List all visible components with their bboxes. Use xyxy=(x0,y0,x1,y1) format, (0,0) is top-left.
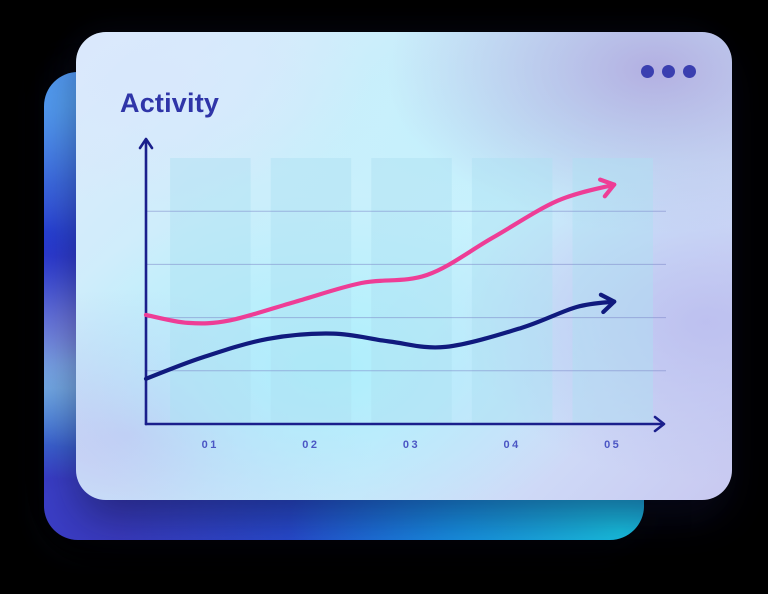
activity-line-chart: 0102030405 xyxy=(76,32,732,500)
chart-bar xyxy=(271,158,352,424)
chart-bar xyxy=(170,158,251,424)
x-axis-tick-label: 02 xyxy=(302,439,319,451)
chart-canvas[interactable]: 0102030405 xyxy=(76,32,732,500)
x-axis-tick-label: 01 xyxy=(202,439,219,451)
chart-tick-labels: 0102030405 xyxy=(202,439,622,451)
chart-bar xyxy=(472,158,553,424)
screenshot-stage: Activity 0102030405 xyxy=(0,0,768,594)
x-axis-tick-label: 04 xyxy=(503,439,520,451)
chart-bar xyxy=(371,158,452,424)
x-axis-tick-label: 05 xyxy=(604,439,621,451)
x-axis-tick-label: 03 xyxy=(403,439,420,451)
activity-chart-card[interactable]: Activity 0102030405 xyxy=(76,32,732,500)
chart-bar xyxy=(573,158,654,424)
chart-bars-group xyxy=(170,158,653,424)
